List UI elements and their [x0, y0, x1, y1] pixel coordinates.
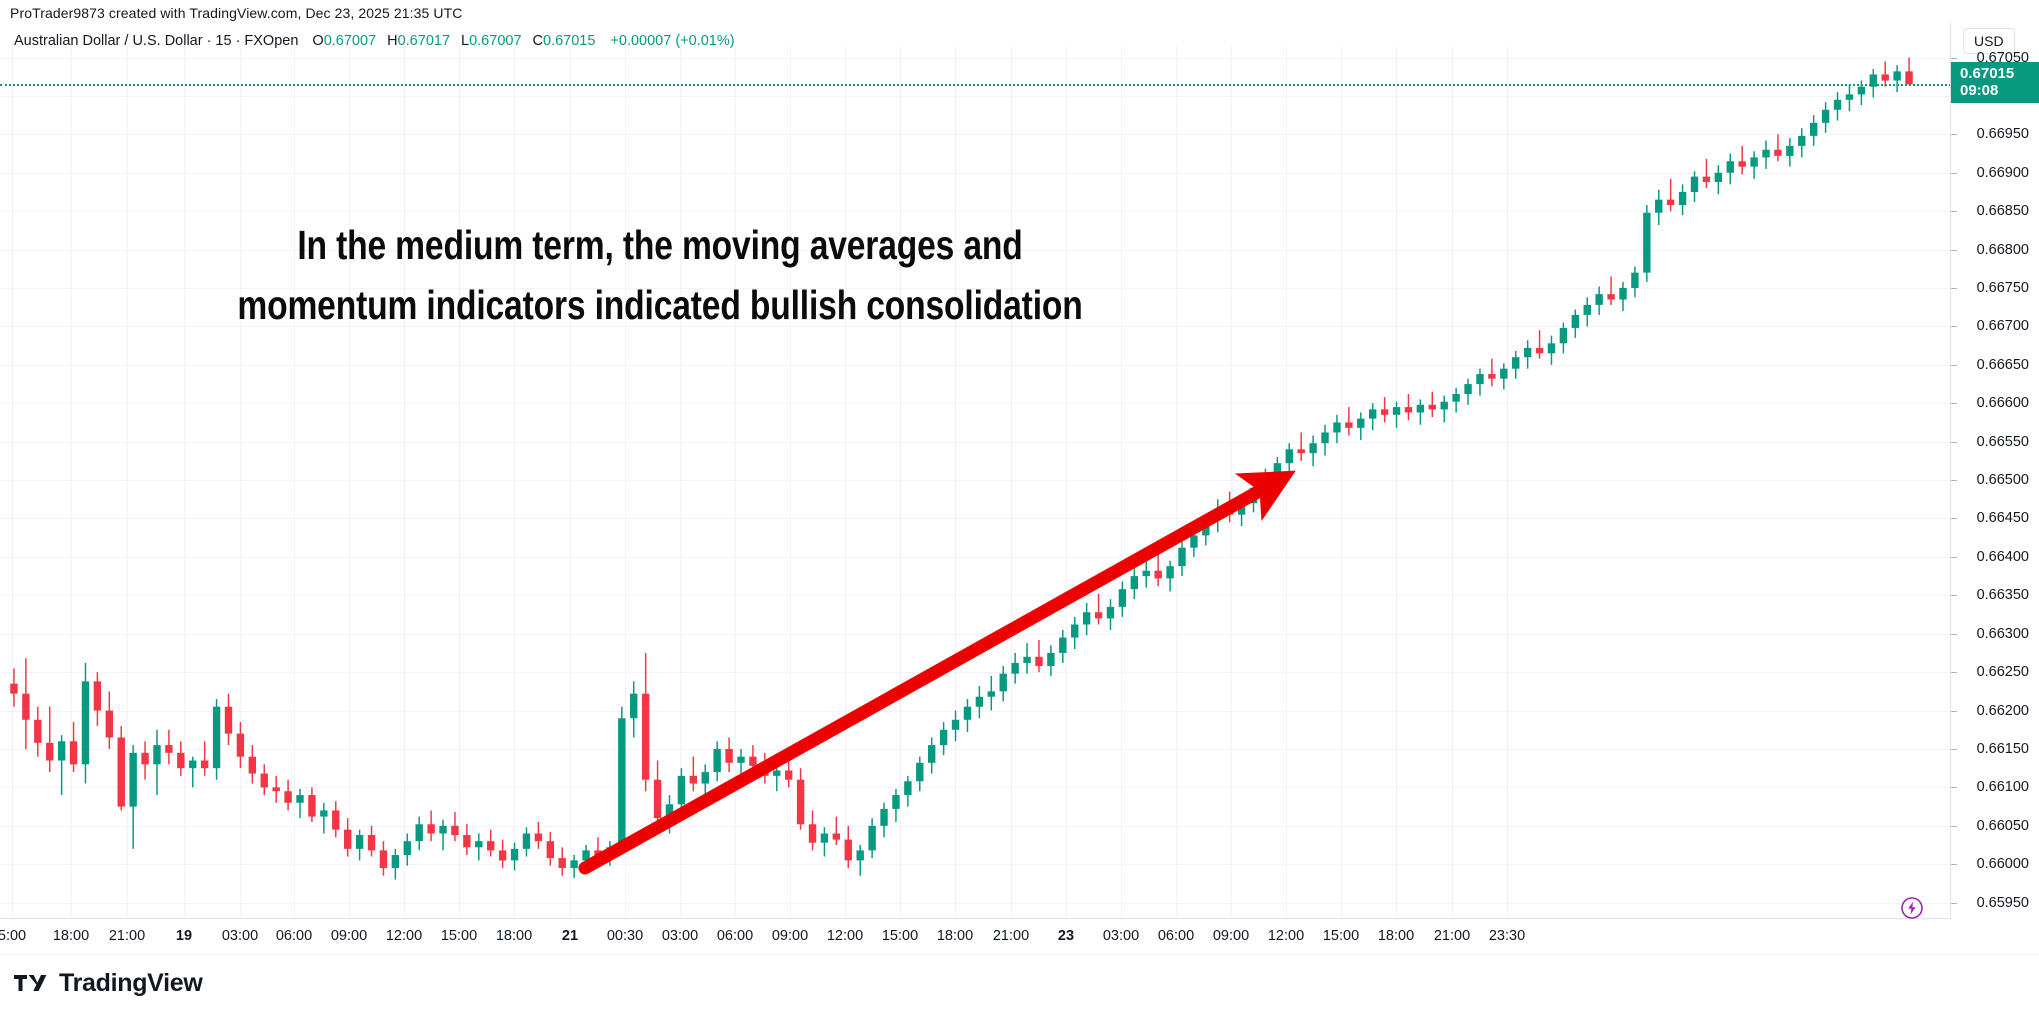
annotation-line-1: In the medium term, the moving averages …	[119, 215, 1201, 275]
current-price-time: 09:08	[1951, 82, 2039, 99]
time-axis-tick-label: 21	[562, 928, 578, 944]
tradingview-mark-icon	[14, 972, 50, 995]
time-axis-tick-label: 09:00	[1213, 928, 1249, 944]
current-price-badge[interactable]: 0.67015 09:08	[1951, 62, 2039, 103]
annotation-line-2: momentum indicators indicated bullish co…	[119, 275, 1201, 335]
price-axis-tick-mark	[1951, 326, 1957, 327]
time-axis-tick-label: 15:00	[1323, 928, 1359, 944]
price-axis[interactable]: USD 0.670500.669500.669000.668500.668000…	[1950, 22, 2039, 918]
chart-plot-area[interactable]	[0, 46, 1951, 918]
price-axis-tick-mark	[1951, 518, 1957, 519]
price-axis-tick-mark	[1951, 250, 1957, 251]
price-axis-tick-mark	[1951, 403, 1957, 404]
time-axis-tick-label: 12:00	[827, 928, 863, 944]
price-axis-tick-mark	[1951, 365, 1957, 366]
price-axis-tick-label: 0.66650	[1977, 357, 2029, 373]
price-axis-tick-label: 0.66200	[1977, 703, 2029, 719]
price-axis-tick-label: 0.66050	[1977, 818, 2029, 834]
price-axis-tick-label: 0.66850	[1977, 203, 2029, 219]
price-axis-tick-label: 0.66500	[1977, 472, 2029, 488]
time-axis-tick-label: 18:00	[53, 928, 89, 944]
time-axis-tick-label: 15:00	[882, 928, 918, 944]
time-axis-tick-label: 23	[1058, 928, 1074, 944]
price-axis-tick-mark	[1951, 864, 1957, 865]
price-axis-tick-label: 0.66950	[1977, 126, 2029, 142]
time-axis-tick-label: 03:00	[222, 928, 258, 944]
price-axis-tick-label: 0.66400	[1977, 549, 2029, 565]
time-axis-tick-label: 09:00	[331, 928, 367, 944]
price-axis-tick-mark	[1951, 480, 1957, 481]
price-axis-tick-mark	[1951, 787, 1957, 788]
time-axis[interactable]: 5:0018:0021:001903:0006:0009:0012:0015:0…	[0, 918, 1951, 955]
price-axis-tick-label: 0.66350	[1977, 587, 2029, 603]
time-axis-tick-label: 19	[176, 928, 192, 944]
price-axis-tick-mark	[1951, 211, 1957, 212]
price-axis-tick-mark	[1951, 749, 1957, 750]
time-axis-tick-label: 12:00	[386, 928, 422, 944]
price-axis-tick-mark	[1951, 288, 1957, 289]
tradingview-wordmark: TradingView	[59, 969, 203, 998]
annotation-text-overlay: In the medium term, the moving averages …	[119, 215, 1201, 335]
time-axis-tick-label: 06:00	[1158, 928, 1194, 944]
annotation-arrow	[0, 46, 1951, 918]
time-axis-tick-label: 5:00	[0, 928, 26, 944]
price-axis-tick-mark	[1951, 903, 1957, 904]
price-axis-tick-label: 0.66300	[1977, 626, 2029, 642]
time-axis-tick-label: 18:00	[1378, 928, 1414, 944]
price-axis-tick-label: 0.66550	[1977, 434, 2029, 450]
tradingview-chart-screenshot: ProTrader9873 created with TradingView.c…	[0, 0, 2039, 1017]
price-axis-tick-label: 0.66600	[1977, 395, 2029, 411]
time-axis-tick-label: 06:00	[276, 928, 312, 944]
price-axis-tick-mark	[1951, 672, 1957, 673]
time-axis-tick-label: 03:00	[1103, 928, 1139, 944]
price-axis-tick-mark	[1951, 173, 1957, 174]
time-axis-tick-label: 23:30	[1489, 928, 1525, 944]
bottom-branding-bar: TradingView	[0, 954, 2039, 1018]
time-axis-tick-label: 03:00	[662, 928, 698, 944]
current-price-value: 0.67015	[1951, 65, 2039, 82]
price-axis-tick-label: 0.66100	[1977, 779, 2029, 795]
attribution-text: ProTrader9873 created with TradingView.c…	[10, 5, 463, 21]
price-axis-tick-label: 0.66250	[1977, 664, 2029, 680]
time-axis-tick-label: 18:00	[496, 928, 532, 944]
time-axis-tick-label: 00:30	[607, 928, 643, 944]
price-axis-tick-label: 0.66900	[1977, 165, 2029, 181]
price-axis-tick-mark	[1951, 595, 1957, 596]
price-axis-tick-mark	[1951, 134, 1957, 135]
price-axis-tick-mark	[1951, 711, 1957, 712]
price-axis-tick-label: 0.66450	[1977, 510, 2029, 526]
time-axis-tick-label: 09:00	[772, 928, 808, 944]
time-axis-tick-label: 06:00	[717, 928, 753, 944]
time-axis-tick-label: 21:00	[993, 928, 1029, 944]
price-axis-tick-label: 0.66700	[1977, 318, 2029, 334]
price-axis-tick-label: 0.66000	[1977, 856, 2029, 872]
time-axis-tick-label: 18:00	[937, 928, 973, 944]
time-axis-tick-label: 21:00	[109, 928, 145, 944]
price-axis-tick-label: 0.66800	[1977, 242, 2029, 258]
time-axis-tick-label: 15:00	[441, 928, 477, 944]
price-axis-tick-mark	[1951, 442, 1957, 443]
price-axis-tick-label: 0.65950	[1977, 895, 2029, 911]
price-axis-tick-mark	[1951, 634, 1957, 635]
tradingview-logo: TradingView	[14, 969, 203, 998]
time-axis-tick-label: 12:00	[1268, 928, 1304, 944]
time-axis-tick-label: 21:00	[1434, 928, 1470, 944]
price-axis-tick-mark	[1951, 826, 1957, 827]
lightning-bolt-icon[interactable]	[1900, 896, 1924, 920]
price-axis-tick-label: 0.66750	[1977, 280, 2029, 296]
price-axis-tick-label: 0.66150	[1977, 741, 2029, 757]
price-axis-tick-mark	[1951, 557, 1957, 558]
price-axis-tick-mark	[1951, 58, 1957, 59]
